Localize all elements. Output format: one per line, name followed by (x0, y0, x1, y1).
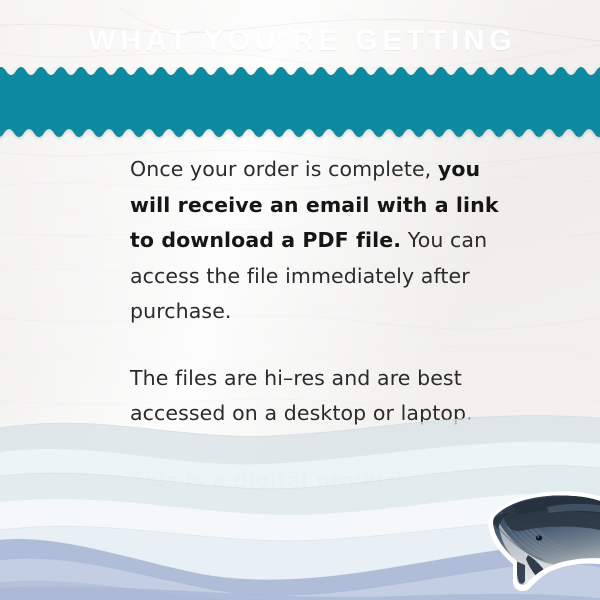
product-info-card: WHAT YOU’RE GETTING Once your order is c… (0, 0, 600, 600)
page-title: WHAT YOU’RE GETTING (0, 0, 600, 82)
blue-whale-icon (483, 487, 600, 592)
whale-eye (536, 535, 542, 540)
text-run: Once your order is complete, (130, 157, 438, 181)
paragraph-delivery: Once your order is complete, you will re… (130, 152, 502, 330)
